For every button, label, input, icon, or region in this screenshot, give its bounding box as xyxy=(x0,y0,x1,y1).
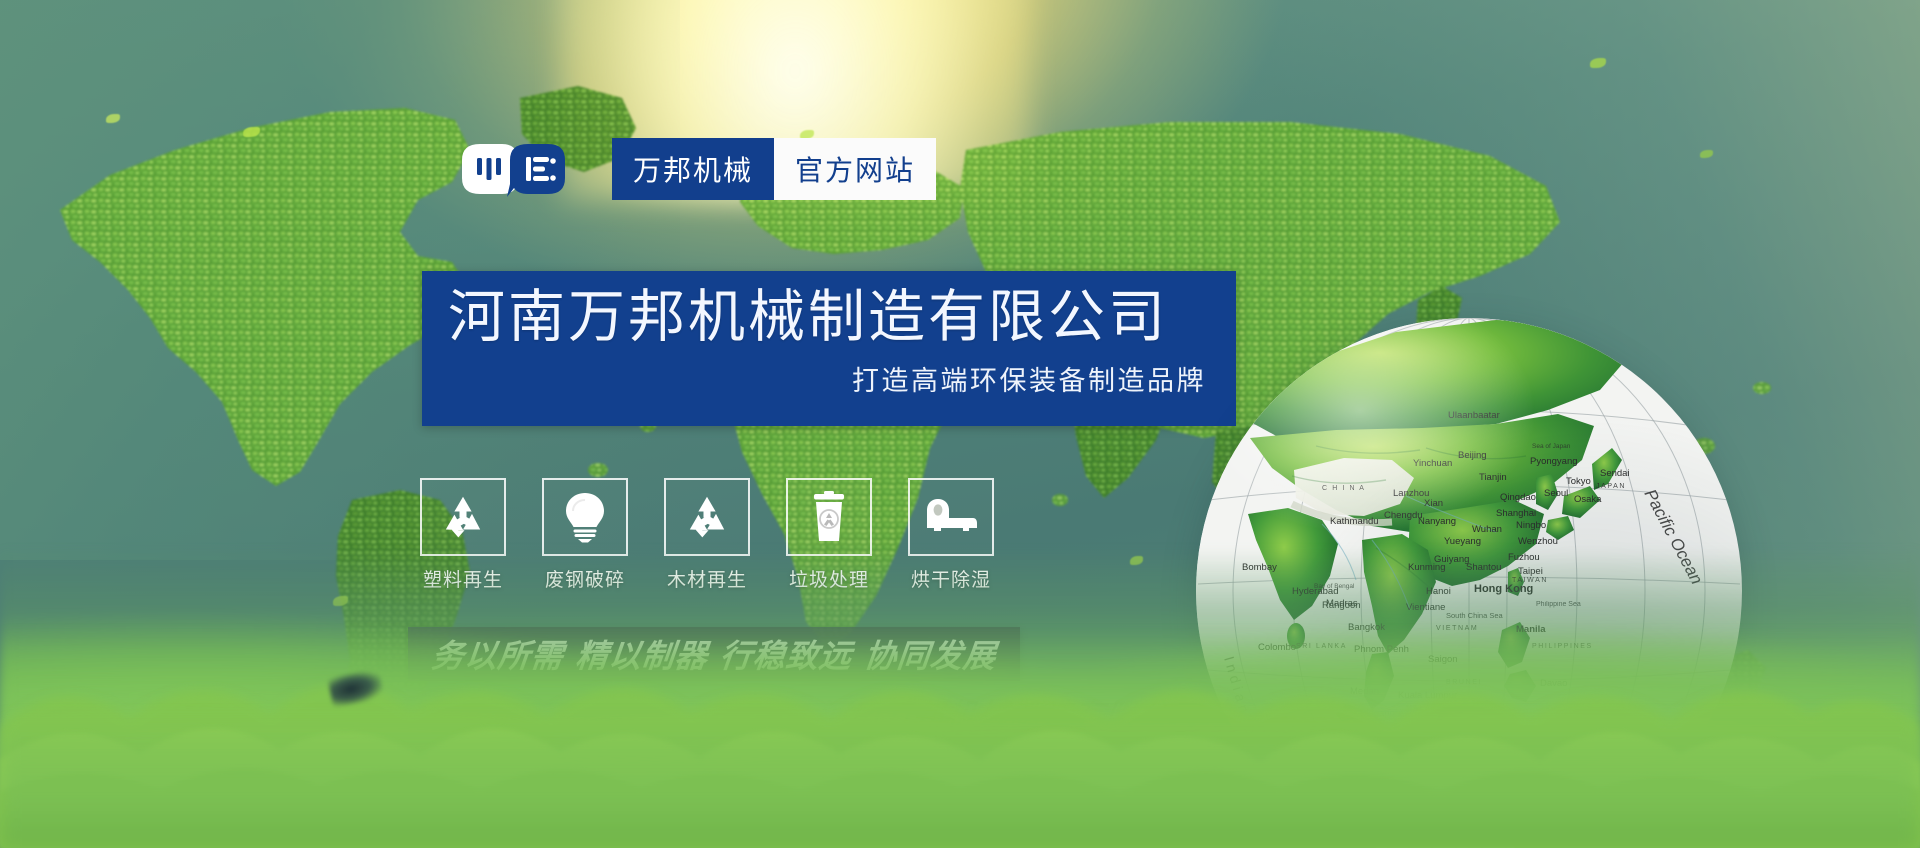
page-title: 河南万邦机械制造有限公司 xyxy=(448,287,1206,349)
page-subtitle: 打造高端环保装备制造品牌 xyxy=(448,359,1206,398)
svg-text:Wuhan: Wuhan xyxy=(1472,524,1502,535)
service-icon-box[interactable] xyxy=(664,478,750,556)
hero-banner-stage: 万邦机械 官方网站 河南万邦机械制造有限公司 打造高端环保装备制造品牌 塑 xyxy=(0,0,1920,848)
recycle-icon xyxy=(682,492,732,542)
wb-speech-bubble-logo[interactable] xyxy=(458,138,570,200)
svg-text:Sea of Japan: Sea of Japan xyxy=(1532,443,1571,450)
svg-text:Ningbo: Ningbo xyxy=(1516,520,1546,531)
svg-text:Nanyang: Nanyang xyxy=(1418,516,1456,527)
official-site-tab[interactable]: 官方网站 xyxy=(774,138,936,200)
svg-text:Wenzhou: Wenzhou xyxy=(1518,536,1558,547)
svg-text:Tianjin: Tianjin xyxy=(1479,472,1507,483)
svg-text:Seoul: Seoul xyxy=(1544,488,1568,499)
brand-name-tab[interactable]: 万邦机械 xyxy=(612,138,774,200)
svg-text:C H I N A: C H I N A xyxy=(1322,485,1366,492)
dryer-drum-icon xyxy=(923,497,979,537)
svg-text:JAPAN: JAPAN xyxy=(1596,483,1626,490)
service-icon-box[interactable] xyxy=(542,478,628,556)
svg-text:Shanghai: Shanghai xyxy=(1496,508,1536,519)
trash-bin-recycle-icon xyxy=(809,491,849,543)
grass-layer-near xyxy=(0,718,1920,848)
service-icon-box[interactable] xyxy=(786,478,872,556)
service-icon-box[interactable] xyxy=(420,478,506,556)
svg-text:Qingdao: Qingdao xyxy=(1500,492,1536,503)
svg-text:Tokyo: Tokyo xyxy=(1566,476,1591,487)
svg-text:Beijing: Beijing xyxy=(1458,450,1487,461)
recycle-icon xyxy=(438,492,488,542)
service-icon-box[interactable] xyxy=(908,478,994,556)
svg-text:Yinchuan: Yinchuan xyxy=(1413,458,1452,469)
svg-text:Ulaanbaatar: Ulaanbaatar xyxy=(1448,410,1500,421)
svg-text:Yueyang: Yueyang xyxy=(1444,536,1481,547)
svg-text:Pyongyang: Pyongyang xyxy=(1530,456,1578,467)
svg-text:Chengdu: Chengdu xyxy=(1384,510,1423,521)
hero-title-banner: 河南万邦机械制造有限公司 打造高端环保装备制造品牌 xyxy=(422,271,1236,426)
lightbulb-icon xyxy=(562,491,608,543)
svg-text:Osaka: Osaka xyxy=(1574,494,1602,505)
site-header: 万邦机械 官方网站 xyxy=(458,138,936,200)
svg-text:Sendai: Sendai xyxy=(1600,468,1630,479)
svg-text:Kathmandu: Kathmandu xyxy=(1330,516,1379,527)
svg-text:Xian: Xian xyxy=(1424,498,1443,509)
